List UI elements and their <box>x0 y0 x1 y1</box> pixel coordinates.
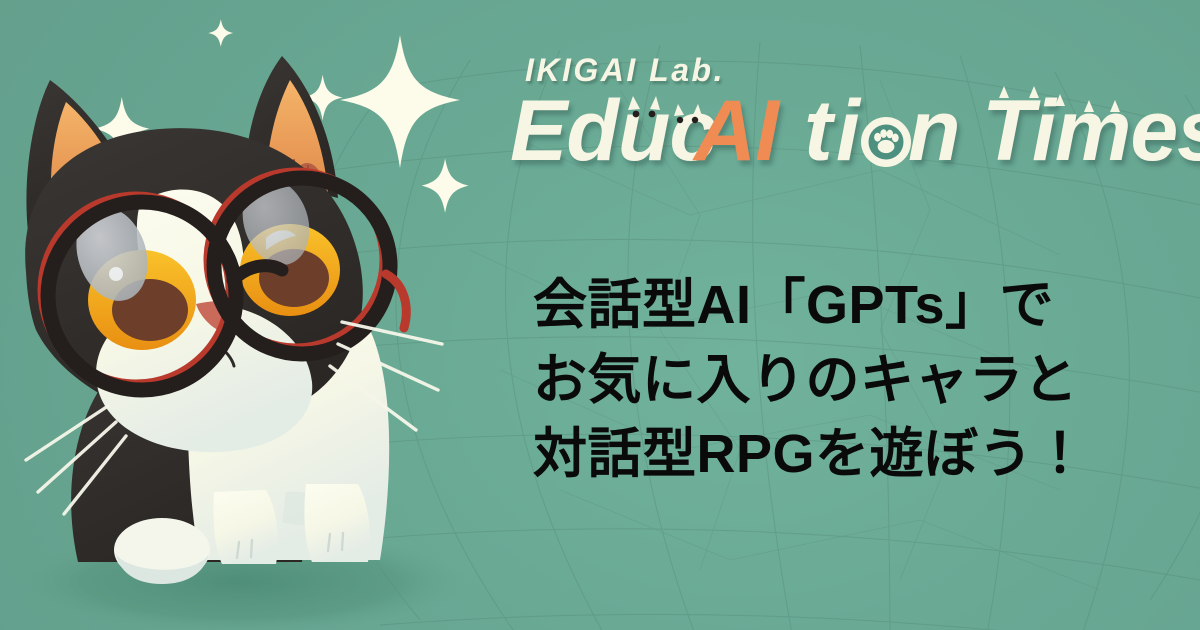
paw-print-icon <box>861 117 911 167</box>
masthead-ai: AI <box>692 84 781 179</box>
headline-line-1: 会話型AI「GPTs」で <box>533 268 1173 343</box>
content-column: IKIGAI Lab. Educ AI t i n Times <box>505 0 1200 630</box>
og-banner: IKIGAI Lab. Educ AI t i n Times <box>0 0 1200 630</box>
headline-line-2: お気に入りのキャラと <box>533 343 1173 418</box>
masthead-logo: Educ AI t i n Times <box>510 88 1200 180</box>
headline-line-3: 対話型RPGを遊ぼう！ <box>533 417 1173 492</box>
masthead-educ: Educ <box>510 84 716 179</box>
masthead-times: Times <box>982 84 1200 179</box>
headline: 会話型AI「GPTs」で お気に入りのキャラと 対話型RPGを遊ぼう！ <box>533 268 1173 492</box>
masthead-tion: t <box>804 84 836 179</box>
masthead-tion-i: i <box>836 84 862 179</box>
masthead-tion-n: n <box>908 84 960 179</box>
